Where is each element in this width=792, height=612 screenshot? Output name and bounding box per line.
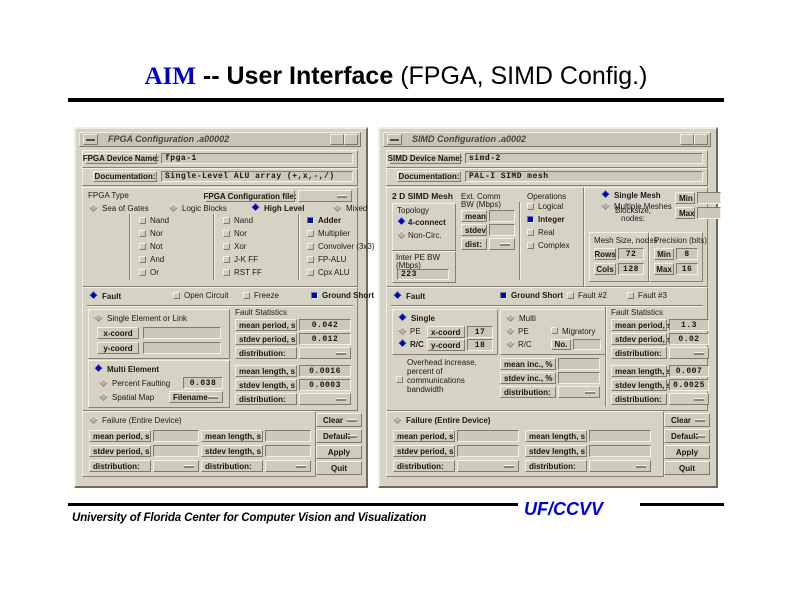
fpga-device-name-input[interactable]: fpga-1 — [161, 153, 353, 164]
fpga-high-checkbox-2[interactable] — [307, 243, 314, 250]
title-tail: (FPGA, SIMD Config.) — [400, 62, 647, 90]
fpga-logic-checkbox-4[interactable] — [223, 269, 230, 276]
simd-fault-stat-label-0: mean period, s — [611, 319, 667, 331]
page-title: AIM -- User Interface (FPGA, SIMD Config… — [0, 62, 792, 91]
simd-single-label-0: PE — [410, 327, 421, 337]
simd-operation-label-1: Integer — [538, 215, 565, 225]
fpga-fault-stat-input-4[interactable]: 0.0003 — [299, 379, 351, 391]
simd-fault-stat-input-0[interactable]: 1.3 — [669, 319, 709, 331]
simd-action-quit-button[interactable]: Quit — [664, 461, 710, 475]
column-divider-2 — [213, 214, 215, 280]
fpga-type-label-2: High Level — [264, 204, 304, 214]
fpga-fault-type-label-0: Open Circuit — [184, 291, 228, 301]
fpga-fault-type-checkbox-0[interactable] — [173, 292, 180, 299]
fpga-failure-right-input-1[interactable] — [265, 445, 311, 457]
simd-failure-right-label-1: stdev length, s — [525, 445, 587, 457]
simd-single-radio-1[interactable] — [398, 339, 407, 348]
fpga-fault-stat-label-3: mean length, s — [235, 365, 297, 377]
fpga-action-quit-button[interactable]: Quit — [316, 461, 362, 475]
simd-fault-tab-checkbox-0[interactable] — [500, 292, 507, 299]
simd-failure-right-input-1[interactable] — [589, 445, 651, 457]
footer-divider-left — [68, 503, 518, 506]
fpga-fault-type-label-2: Ground Short — [322, 291, 374, 301]
fpga-failure-panel: Failure (Entire Device) mean period, sst… — [82, 411, 316, 477]
simd-blocksize-input-0[interactable] — [697, 192, 721, 204]
fault-divider — [87, 305, 353, 307]
maximize-icon[interactable] — [330, 134, 344, 145]
fpga-single-element-radio[interactable] — [94, 313, 103, 322]
fpga-x-coord-input[interactable] — [143, 327, 221, 339]
fpga-x-coord-label: x-coord — [97, 327, 139, 339]
simd-failure-panel: Failure (Entire Device) mean period, sst… — [386, 411, 664, 477]
slide-canvas: AIM -- User Interface (FPGA, SIMD Config… — [0, 0, 792, 612]
simd-mesh-size-input-1[interactable]: 128 — [618, 263, 644, 275]
fpga-action-default-button[interactable]: Default — [316, 429, 362, 443]
fpga-fault-stat-input-0[interactable]: 0.042 — [299, 319, 351, 331]
fpga-fault-radio[interactable] — [89, 291, 98, 300]
simd-documentation-input[interactable]: PAL-I SIMD mesh — [465, 171, 703, 182]
fpga-window-title: FPGA Configuration .a00002 — [108, 133, 229, 146]
fpga-gates-checkbox-0[interactable] — [139, 217, 146, 224]
simd-failure-radio[interactable] — [393, 415, 402, 424]
simd-fault-tab-label-0: Ground Short — [511, 291, 563, 301]
simd-operation-label-2: Real — [538, 228, 554, 238]
fpga-titlebar[interactable]: FPGA Configuration .a00002 — [79, 132, 361, 147]
simd-fault-stat-select-2[interactable] — [669, 347, 709, 359]
simd-failure-left-label-2: distribution: — [393, 460, 455, 472]
simd-device-name-row: SIMD Device Name: simd-2 — [386, 150, 708, 168]
fpga-failure-right-label-2: distribution: — [201, 460, 263, 472]
fpga-failure-right-label-0: mean length, s — [201, 430, 263, 442]
fpga-gates-label-2: Not — [150, 242, 162, 252]
simd-overhead-label-1: stdev inc., % — [500, 372, 556, 384]
fpga-failure-left-label-0: mean period, s — [89, 430, 151, 442]
simd-operation-checkbox-3[interactable] — [527, 242, 534, 249]
simd-single-input-0[interactable]: 17 — [467, 326, 493, 338]
fpga-fault-panel: Fault Open CircuitFreezeGround Short Sin… — [82, 287, 358, 411]
simd-overhead-checkbox[interactable] — [396, 376, 403, 383]
fpga-action-apply-button[interactable]: Apply — [316, 445, 362, 459]
simd-fault-tab-checkbox-2[interactable] — [627, 292, 634, 299]
simd-inter-pe-panel: Inter PE BW (Mbps) 223 — [392, 251, 456, 283]
simd-mesh-mode-label-0: Single Mesh — [614, 191, 661, 201]
fpga-fault-stat-select-5[interactable] — [299, 393, 351, 405]
simd-mesh-size-label-1: Cols — [594, 263, 616, 275]
simd-precision-title: Precision (bits) — [654, 236, 707, 246]
simd-single-radio[interactable] — [398, 313, 407, 322]
fpga-gates-label-1: Nor — [150, 229, 163, 239]
simd-mesh-mode-radio-0[interactable] — [601, 190, 610, 199]
simd-overhead-select-2[interactable] — [558, 386, 600, 398]
simd-failure-left-select-2[interactable] — [457, 460, 519, 472]
fpga-gates-checkbox-1[interactable] — [139, 230, 146, 237]
simd-multi-label-0: PE — [518, 327, 529, 337]
simd-failure-right-label-2: distribution: — [525, 460, 587, 472]
fpga-failure-right-input-0[interactable] — [265, 430, 311, 442]
column-divider-1 — [129, 214, 131, 280]
simd-titlebar[interactable]: SIMD Configuration .a0002 — [383, 132, 711, 147]
fpga-high-label-3: FP-ALU — [318, 255, 346, 265]
simd-fault-stat-label-4: stdev length, s — [611, 379, 667, 391]
simd-fault-stat-input-4[interactable]: 0.0025 — [669, 379, 709, 391]
fpga-fault-stat-label-0: mean period, s — [235, 319, 297, 331]
fpga-gates-checkbox-4[interactable] — [139, 269, 146, 276]
fpga-type-panel: FPGA Type FPGA Configuration file: Sea o… — [82, 187, 358, 287]
simd-failure-right-label-0: mean length, s — [525, 430, 587, 442]
simd-documentation-label: Documentation: — [397, 171, 461, 182]
fpga-failure-left-input-0[interactable] — [153, 430, 199, 442]
simd-failure-left-label-1: stdev period, s — [393, 445, 455, 457]
fpga-config-file-select[interactable] — [298, 190, 352, 202]
simd-multi-radio-0[interactable] — [506, 326, 515, 335]
simd-stats-divider — [605, 307, 607, 407]
fpga-spatial-map-radio[interactable] — [99, 392, 108, 401]
fpga-device-name-row: FPGA Device Name: fpga-1 — [82, 150, 358, 168]
fpga-fault-type-checkbox-2[interactable] — [311, 292, 318, 299]
simd-fault-stat-select-5[interactable] — [669, 393, 709, 405]
fpga-logic-checkbox-1[interactable] — [223, 230, 230, 237]
simd-ext-comm-label-2: dist: — [461, 238, 487, 250]
fpga-documentation-label: Documentation: — [93, 171, 157, 182]
simd-precision-input-0[interactable]: 8 — [676, 248, 698, 260]
simd-mesh-config-panel: Single MeshMultiple Meshes Blocksize, no… — [584, 187, 708, 287]
simd-documentation-row: Documentation: PAL-I SIMD mesh — [386, 168, 708, 186]
fpga-failure-radio[interactable] — [89, 415, 98, 424]
simd-overhead-label-0: mean inc., % — [500, 358, 556, 370]
fpga-high-label-1: Multiplier — [318, 229, 350, 239]
footer-text: University of Florida Center for Compute… — [72, 512, 426, 524]
fpga-type-label: FPGA Type — [88, 191, 129, 201]
fpga-device-name-label: FPGA Device Name: — [85, 153, 157, 164]
simd-fault-stat-label-5: distribution: — [611, 393, 667, 405]
restore-icon[interactable] — [344, 134, 358, 145]
fpga-gates-checkbox-3[interactable] — [139, 256, 146, 263]
fpga-fault-stat-label-2: distribution: — [235, 347, 297, 359]
simd-operation-checkbox-2[interactable] — [527, 229, 534, 236]
fpga-type-label-3: Mixed — [346, 204, 367, 214]
fpga-config-file-label: FPGA Configuration file: — [205, 190, 295, 202]
simd-fault-stats-title: Fault Statistics — [611, 308, 663, 318]
fpga-failure-left-label-1: stdev period, s — [89, 445, 151, 457]
restore-icon[interactable] — [694, 134, 708, 145]
simd-action-default-button[interactable]: Default — [664, 429, 710, 443]
simd-operations-label: Operations — [527, 192, 566, 202]
simd-fault-stat-input-1[interactable]: 0.02 — [669, 333, 709, 345]
simd-migratory-label: Migratory — [562, 327, 595, 337]
simd-mesh-size-label-0: Rows — [594, 248, 616, 260]
simd-single-label-1: R/C — [410, 340, 424, 350]
fpga-logic-label-1: Nor — [234, 229, 247, 239]
simd-mesh-mode-radio-1[interactable] — [601, 201, 610, 210]
simd-no-input[interactable] — [573, 339, 601, 350]
fpga-high-checkbox-3[interactable] — [307, 256, 314, 263]
simd-multi-radio[interactable] — [506, 313, 515, 322]
fpga-y-coord-input[interactable] — [143, 342, 221, 354]
fpga-fault-stat-input-3[interactable]: 0.0016 — [299, 365, 351, 377]
fpga-percent-faulting-radio[interactable] — [99, 378, 108, 387]
simd-ext-comm-label-1: stdev — [461, 224, 487, 236]
fpga-multi-element-label: Multi Element — [107, 365, 159, 375]
simd-ext-comm-label-0: mean — [461, 210, 487, 222]
simd-fault-tab-checkbox-1[interactable] — [567, 292, 574, 299]
fpga-fault-stat-select-2[interactable] — [299, 347, 351, 359]
simd-ext-comm-input-0[interactable] — [489, 210, 515, 222]
simd-action-apply-button[interactable]: Apply — [664, 445, 710, 459]
simd-multi-panel: Multi PER/C Migratory No. — [500, 309, 606, 355]
maximize-icon[interactable] — [680, 134, 694, 145]
fpga-high-label-0: Adder — [318, 216, 341, 226]
fpga-type-label-0: Sea of Gates — [102, 204, 149, 214]
simd-topology-label-1: Non-Circ. — [408, 231, 442, 241]
simd-precision-input-1[interactable]: 16 — [676, 263, 698, 275]
fpga-logic-label-2: Xor — [234, 242, 246, 252]
fpga-fault-stats-title: Fault Statistics — [235, 308, 287, 318]
column-divider-3 — [298, 214, 300, 280]
simd-mesh-size-input-0[interactable]: 72 — [618, 248, 644, 260]
fpga-type-label-1: Logic Blocks — [182, 204, 227, 214]
fpga-high-label-4: Cpx ALU — [318, 268, 350, 278]
simd-failure-left-label-0: mean period, s — [393, 430, 455, 442]
simd-topology-radio-1[interactable] — [397, 230, 406, 239]
simd-fault-stat-label-1: stdev period, s — [611, 333, 667, 345]
simd-blocksize-label-0: Min — [675, 192, 695, 204]
simd-single-field-label-0: x-coord — [427, 326, 465, 338]
simd-action-clear-button[interactable]: Clear — [664, 413, 710, 427]
title-divider — [68, 98, 724, 102]
simd-window-title: SIMD Configuration .a0002 — [412, 133, 526, 146]
simd-fault-panel: Fault Ground ShortFault #2Fault #3 Singl… — [386, 287, 708, 411]
fpga-single-element-panel: Single Element or Link x-coord y-coord — [88, 309, 230, 359]
simd-failure-left-input-0[interactable] — [457, 430, 519, 442]
fpga-fault-stat-label-4: stdev length, s — [235, 379, 297, 391]
fpga-failure-label: Failure (Entire Device) — [102, 416, 182, 426]
simd-precision-panel: Precision (bits) Min8Max16 — [649, 232, 703, 282]
simd-overhead-input-0[interactable] — [558, 358, 600, 370]
simd-blocksize-units: nodes: — [621, 214, 645, 224]
simd-migratory-checkbox[interactable] — [551, 327, 558, 334]
fpga-gates-label-4: Or — [150, 268, 159, 278]
simd-ext-comm-select-2[interactable] — [489, 238, 515, 250]
fpga-type-radio-3[interactable] — [333, 203, 342, 212]
fpga-configuration-window: FPGA Configuration .a00002 FPGA Device N… — [74, 127, 368, 488]
simd-failure-right-input-0[interactable] — [589, 430, 651, 442]
simd-multi-label: Multi — [519, 314, 536, 324]
fpga-fault-type-label-1: Freeze — [254, 291, 279, 301]
simd-fault-stat-input-3[interactable]: 0.007 — [669, 365, 709, 377]
simd-inter-pe-input[interactable]: 223 — [397, 269, 449, 280]
title-middle: -- User Interface — [196, 62, 400, 90]
title-aim: AIM — [145, 63, 196, 90]
simd-failure-label: Failure (Entire Device) — [406, 416, 490, 426]
simd-topology-radio-0[interactable] — [397, 217, 406, 226]
fpga-logic-checkbox-2[interactable] — [223, 243, 230, 250]
fpga-high-label-2: Convolver (3x3) — [318, 242, 374, 252]
fpga-fault-type-checkbox-1[interactable] — [243, 292, 250, 299]
simd-ext-comm-units: BW (Mbps) — [461, 200, 501, 210]
fpga-action-clear-button[interactable]: Clear — [316, 413, 362, 427]
footer-brand: UF/CCVV — [524, 499, 603, 520]
fpga-gates-label-0: Nand — [150, 216, 169, 226]
simd-operation-label-0: Logical — [538, 202, 563, 212]
fpga-failure-left-input-1[interactable] — [153, 445, 199, 457]
simd-topology-label: Topology — [397, 206, 429, 216]
simd-single-panel: Single PEx-coord17R/Cy-coord18 — [392, 309, 498, 355]
simd-multi-label-1: R/C — [518, 340, 532, 350]
fpga-fault-stat-input-1[interactable]: 0.012 — [299, 333, 351, 345]
fpga-documentation-row: Documentation: Single-Level ALU array (+… — [82, 168, 358, 186]
simd-overhead-label: Overhead increase, percent of communicat… — [407, 358, 481, 394]
simd-single-radio-0[interactable] — [398, 326, 407, 335]
fpga-logic-label-0: Nand — [234, 216, 253, 226]
fpga-fault-stat-label-5: distribution: — [235, 393, 297, 405]
fpga-multi-element-radio[interactable] — [94, 364, 103, 373]
simd-fault-radio[interactable] — [393, 291, 402, 300]
fpga-type-radio-1[interactable] — [169, 203, 178, 212]
fpga-failure-left-label-2: distribution: — [89, 460, 151, 472]
simd-single-label: Single — [411, 314, 435, 324]
simd-mesh-size-panel: Mesh Size, nodes Rows72Cols128 — [589, 232, 649, 282]
simd-single-field-label-1: y-coord — [427, 339, 465, 351]
fpga-percent-faulting-label: Percent Faulting — [112, 379, 170, 389]
fpga-single-element-label: Single Element or Link — [107, 314, 187, 324]
fpga-spatial-map-label: Spatial Map — [112, 393, 154, 403]
fpga-failure-right-select-2[interactable] — [265, 460, 311, 472]
fpga-fault-stat-label-1: stdev period, s — [235, 333, 297, 345]
fpga-y-coord-label: y-coord — [97, 342, 139, 354]
simd-fault-tab-label-1: Fault #2 — [578, 291, 607, 301]
simd-failure-left-input-1[interactable] — [457, 445, 519, 457]
fpga-logic-label-4: RST FF — [234, 268, 262, 278]
fpga-fault-label: Fault — [102, 292, 121, 302]
simd-blocksize-input-1[interactable] — [697, 207, 721, 219]
simd-no-label: No. — [551, 339, 571, 350]
minimize-icon[interactable] — [83, 134, 98, 145]
fpga-documentation-input[interactable]: Single-Level ALU array (+,x,-,/) — [161, 171, 353, 182]
simd-device-name-label: SIMD Device Name: — [389, 153, 461, 164]
simd-ext-comm-input-1[interactable] — [489, 224, 515, 236]
simd-fault-stat-label-2: distribution: — [611, 347, 667, 359]
simd-failure-right-select-2[interactable] — [589, 460, 651, 472]
fpga-logic-checkbox-3[interactable] — [223, 256, 230, 263]
simd-operation-checkbox-0[interactable] — [527, 203, 534, 210]
simd-fault-tab-label-2: Fault #3 — [638, 291, 667, 301]
simd-configuration-window: SIMD Configuration .a0002 SIMD Device Na… — [378, 127, 718, 488]
fpga-failure-right-label-1: stdev length, s — [201, 445, 263, 457]
simd-mesh-title: 2 D SIMD Mesh — [392, 191, 453, 201]
fpga-type-radio-2[interactable] — [251, 203, 260, 212]
simd-multi-radio-1[interactable] — [506, 339, 515, 348]
mesh-divider — [519, 202, 521, 280]
fpga-gates-checkbox-2[interactable] — [139, 243, 146, 250]
fpga-high-checkbox-4[interactable] — [307, 269, 314, 276]
fpga-spatial-map-select[interactable]: Filename — [169, 391, 223, 403]
fpga-high-checkbox-0[interactable] — [307, 217, 314, 224]
simd-fault-label: Fault — [406, 292, 425, 302]
simd-blocksize-label-1: Max — [675, 207, 695, 219]
minimize-icon[interactable] — [387, 134, 402, 145]
simd-operation-label-3: Complex — [538, 241, 570, 251]
fpga-high-checkbox-1[interactable] — [307, 230, 314, 237]
simd-operation-checkbox-1[interactable] — [527, 216, 534, 223]
fpga-type-radio-0[interactable] — [89, 203, 98, 212]
simd-overhead-input-1[interactable] — [558, 372, 600, 384]
simd-device-name-input[interactable]: simd-2 — [465, 153, 703, 164]
simd-mesh-panel: 2 D SIMD Mesh Topology 4-connectNon-Circ… — [386, 187, 584, 287]
simd-precision-label-0: Min — [654, 248, 674, 260]
fpga-multi-element-panel: Multi Element Percent Faulting 0.038 Spa… — [88, 360, 230, 408]
simd-topology-label-0: 4-connect — [408, 218, 446, 228]
fpga-percent-faulting-input[interactable]: 0.038 — [183, 377, 223, 389]
fpga-logic-checkbox-0[interactable] — [223, 217, 230, 224]
simd-overhead-label-2: distribution: — [500, 386, 556, 398]
simd-fault-stat-label-3: mean length, s — [611, 365, 667, 377]
simd-fault-divider — [391, 305, 703, 307]
footer-divider-right — [640, 503, 724, 506]
simd-precision-label-1: Max — [654, 263, 674, 275]
fpga-failure-left-select-2[interactable] — [153, 460, 199, 472]
simd-topology-panel: Topology 4-connectNon-Circ. — [392, 203, 456, 251]
simd-single-input-1[interactable]: 18 — [467, 339, 493, 351]
fpga-gates-label-3: And — [150, 255, 164, 265]
fpga-logic-label-3: J-K FF — [234, 255, 258, 265]
